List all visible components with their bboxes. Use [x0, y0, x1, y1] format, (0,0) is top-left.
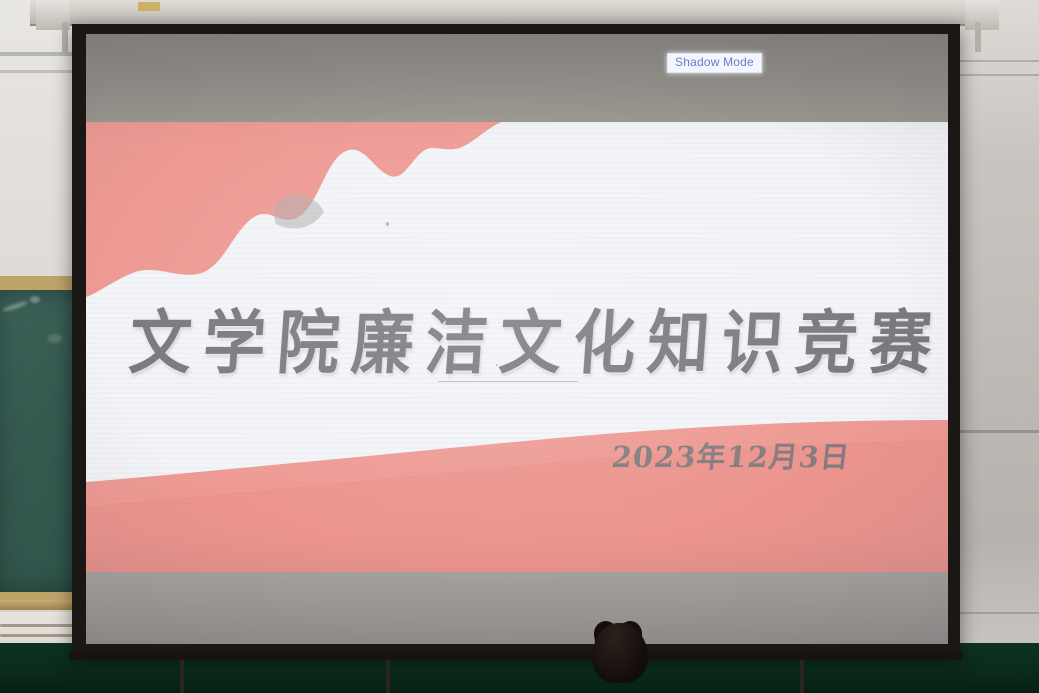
shadow-mode-badge: Shadow Mode [667, 53, 762, 73]
projection-screen-frame: 文学院廉洁文化知识竞赛 2023年12月3日 Shadow Mode [72, 24, 960, 656]
dust-speck [386, 222, 389, 226]
roller-bracket-left [62, 22, 68, 52]
chalk-smudge [2, 300, 28, 313]
slide-title-underline [438, 381, 578, 382]
dust-speck [496, 364, 498, 366]
projection-top-shadow-band [86, 34, 948, 122]
screen-support-leg [386, 660, 390, 693]
roller-label-sticker [138, 2, 160, 11]
presentation-slide: 文学院廉洁文化知识竞赛 2023年12月3日 [86, 34, 948, 644]
projector-screen-roller-housing [30, 0, 990, 26]
wave-decoration-top-icon [86, 112, 526, 297]
head-silhouette [592, 623, 648, 683]
slide-title: 文学院廉洁文化知识竞赛 [126, 287, 933, 388]
screen-support-leg [800, 660, 804, 693]
classroom-scene: 文学院廉洁文化知识竞赛 2023年12月3日 Shadow Mode [0, 0, 1039, 693]
screen-support-leg [180, 660, 184, 693]
screen-bottom-bar [70, 650, 962, 660]
projection-screen-surface[interactable]: 文学院廉洁文化知识竞赛 2023年12月3日 Shadow Mode [86, 34, 948, 644]
roller-bracket-right [975, 22, 981, 52]
slide-date: 2023年12月3日 [610, 434, 853, 476]
roller-end-cap-right [965, 0, 999, 30]
chalk-smudge [48, 334, 62, 343]
chalk-smudge [30, 296, 40, 303]
projection-bottom-shadow-band [86, 572, 948, 644]
person-silhouette-icon [578, 621, 662, 693]
